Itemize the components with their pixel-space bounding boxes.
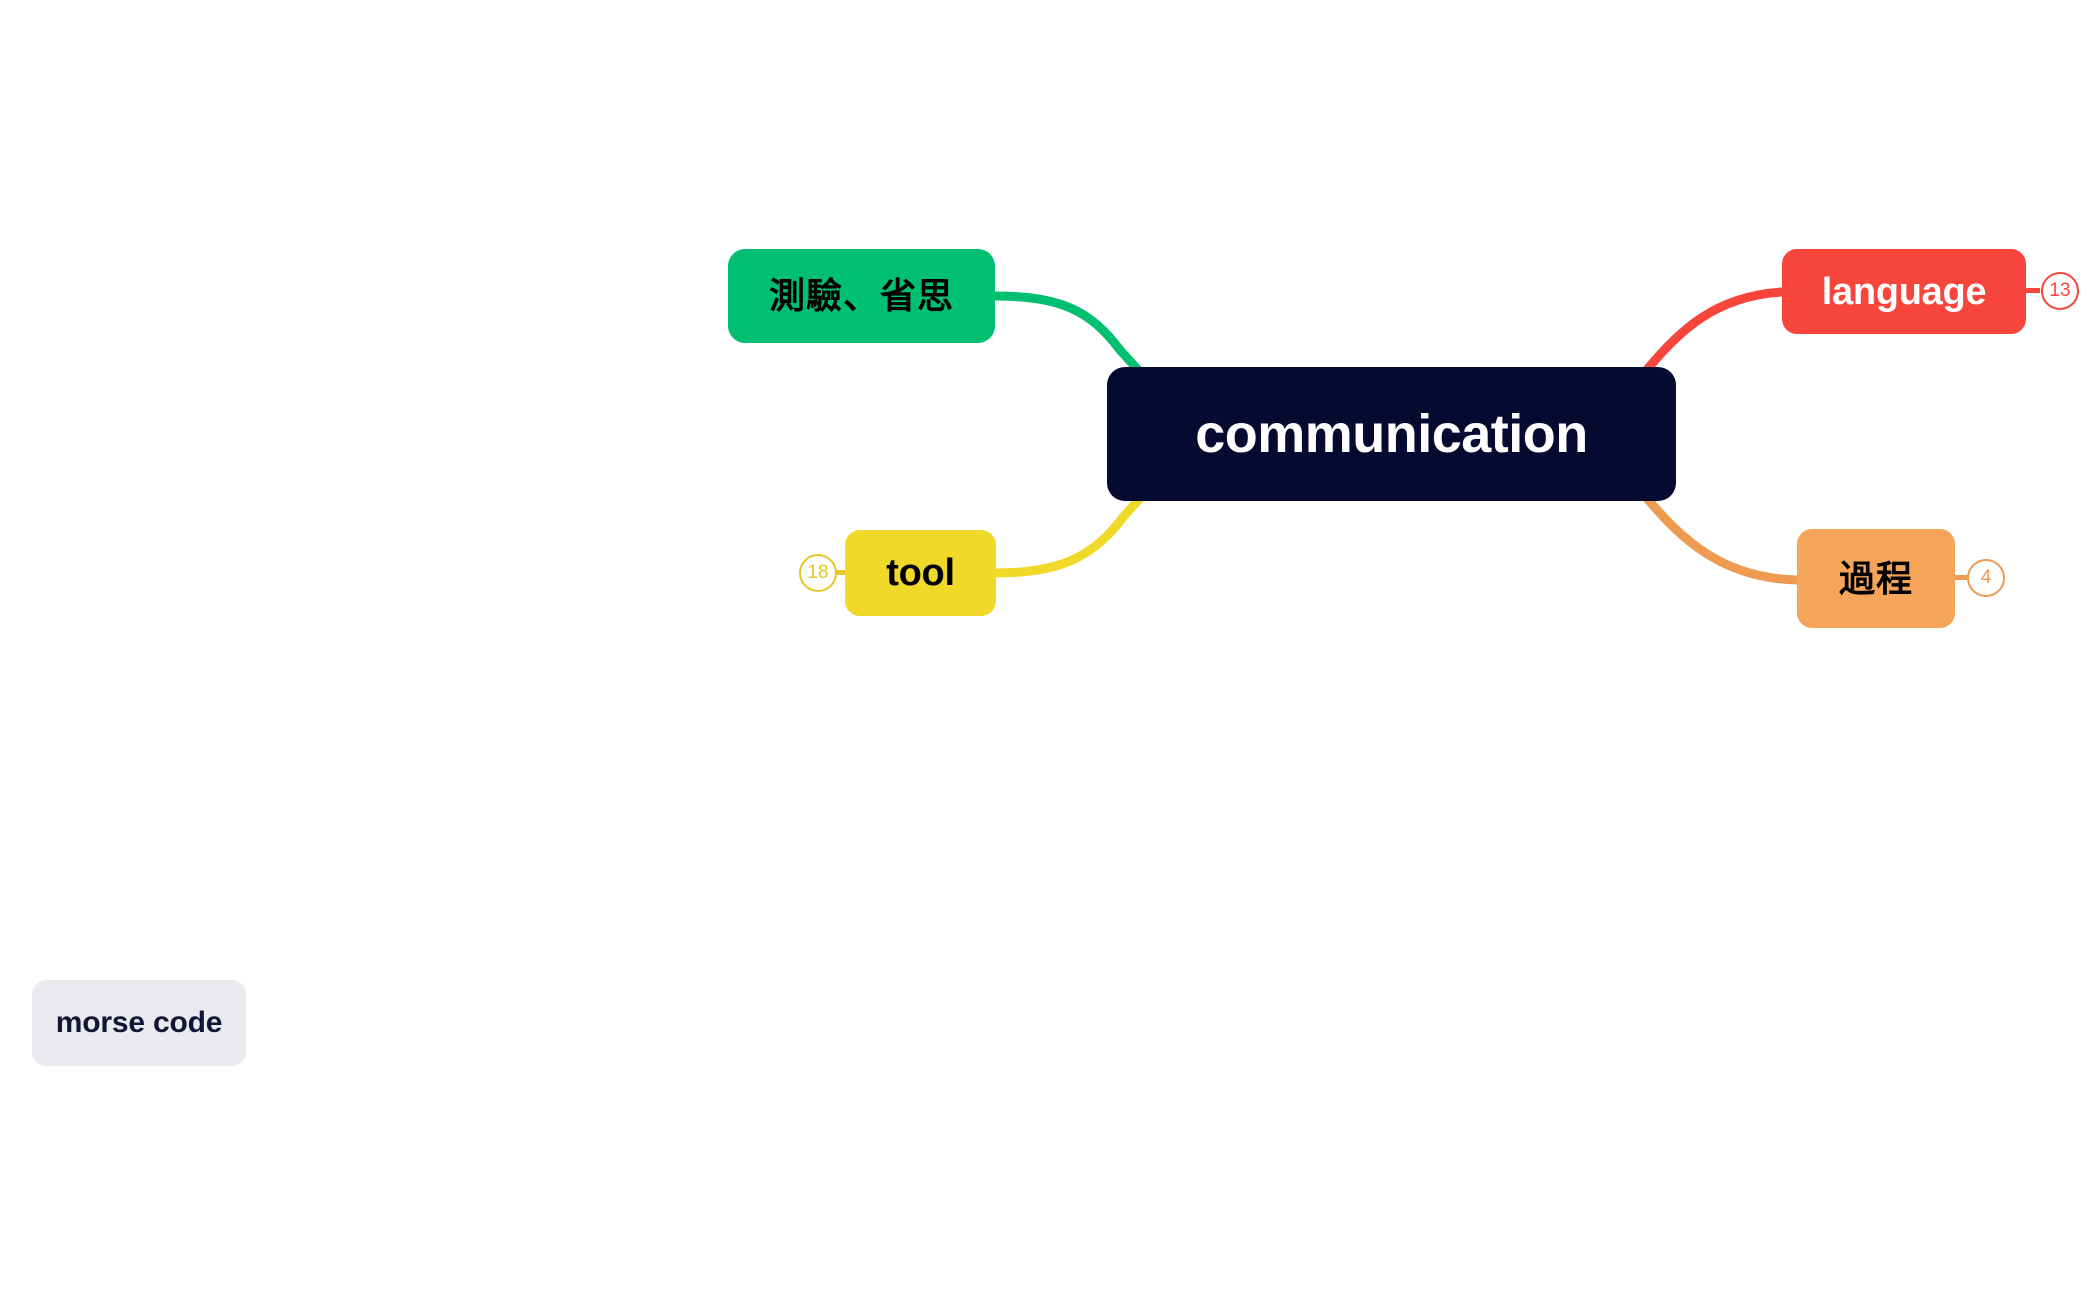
child-count-badge-tool[interactable]: 18 [799, 554, 837, 592]
connector-red [1645, 292, 1782, 372]
connector-layer [0, 0, 2098, 1300]
branch-node-label: language [1822, 273, 1986, 311]
child-count-badge-label: 13 [2049, 280, 2070, 302]
connector-green [994, 296, 1140, 372]
badge-stub-language [2026, 288, 2040, 293]
branch-node-label: tool [886, 554, 954, 592]
branch-node-label: 測驗、省思 [769, 278, 954, 314]
root-node-label: communication [1195, 407, 1588, 461]
root-node-communication[interactable]: communication [1107, 367, 1676, 501]
branch-node-guocheng[interactable]: 過程 [1797, 529, 1955, 628]
branch-node-label: 過程 [1839, 561, 1913, 597]
mindmap-canvas[interactable]: communication 測驗、省思 language 13 tool 18 … [0, 0, 2098, 1300]
branch-node-language[interactable]: language [1782, 249, 2026, 334]
connector-orange [1645, 496, 1797, 580]
floating-chip-label: morse code [56, 1008, 222, 1038]
floating-chip-morse-code[interactable]: morse code [32, 980, 246, 1066]
connector-yellow [996, 496, 1142, 573]
branch-node-tool[interactable]: tool [845, 530, 996, 616]
child-count-badge-label: 4 [1981, 567, 1992, 589]
child-count-badge-language[interactable]: 13 [2041, 272, 2079, 310]
child-count-badge-guocheng[interactable]: 4 [1967, 559, 2005, 597]
branch-node-ceyan-shengsi[interactable]: 測驗、省思 [728, 249, 995, 343]
child-count-badge-label: 18 [807, 562, 828, 584]
